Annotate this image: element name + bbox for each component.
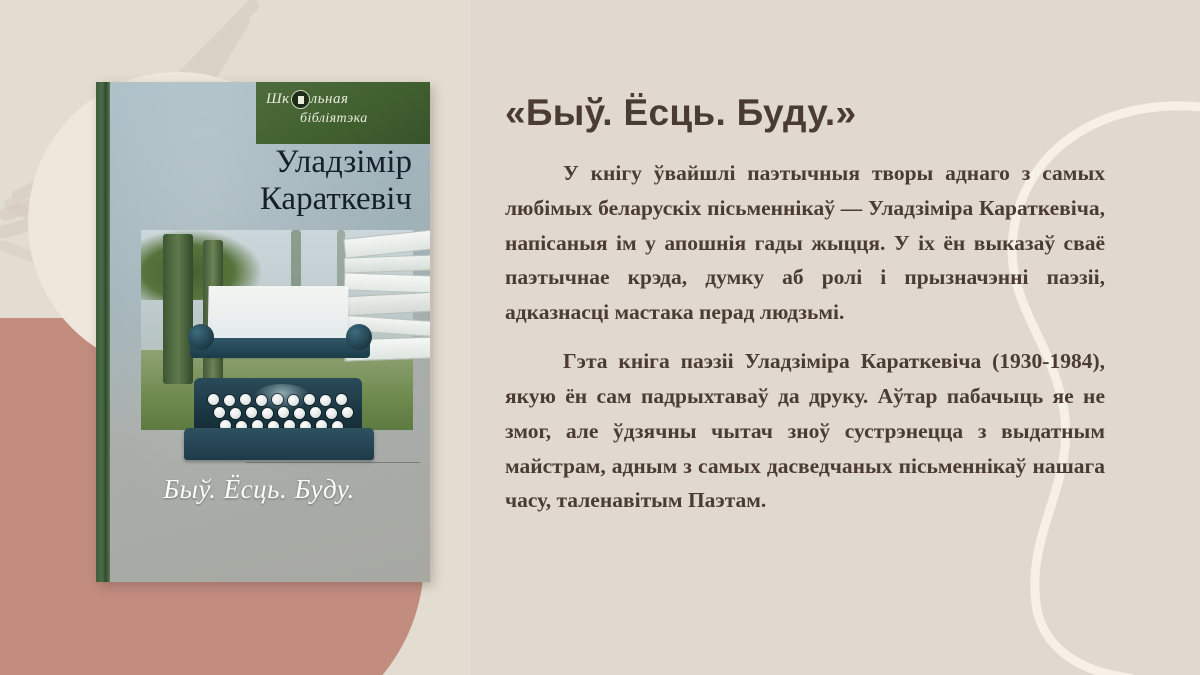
text-column: «Быў. Ёсць. Буду.» У кнігу ўвайшлі паэты… <box>505 92 1105 532</box>
book-in-stack <box>344 254 430 273</box>
book-in-stack <box>344 272 430 293</box>
cover-spine <box>96 82 110 582</box>
series-prefix: Шк <box>266 91 290 108</box>
book-emblem-icon <box>291 90 310 109</box>
book-in-stack <box>344 292 430 317</box>
author-first-name: Уладзімір <box>110 144 412 181</box>
slide-title: «Быў. Ёсць. Буду.» <box>505 92 1105 134</box>
slide-canvas: Шк льная бібліятэка Уладзімір Караткевіч <box>0 0 1200 675</box>
book-cover-image: Шк льная бібліятэка Уладзімір Караткевіч <box>96 82 430 582</box>
series-line-2: бібліятэка <box>300 111 368 127</box>
series-line-1: Шк льная <box>266 90 348 109</box>
cover-author-name: Уладзімір Караткевіч <box>110 144 418 218</box>
paragraph-1: У кнігу ўвайшлі паэтычныя творы аднаго з… <box>505 156 1105 330</box>
author-last-name: Караткевіч <box>110 181 412 218</box>
cover-book-title: Быў. Ёсць. Буду. <box>110 474 408 505</box>
typewriter-illustration <box>184 348 374 460</box>
series-suffix: льная <box>311 91 349 108</box>
cover-divider-rule <box>246 462 420 463</box>
typewriter-knob-left <box>188 324 214 350</box>
series-banner: Шк льная бібліятэка <box>256 82 430 144</box>
typewriter-base <box>184 428 374 460</box>
paragraph-2: Гэта кніга паэзіі Уладзіміра Караткевіча… <box>505 344 1105 518</box>
typewriter-knob-right <box>346 324 372 350</box>
typewriter-carriage <box>190 338 370 358</box>
